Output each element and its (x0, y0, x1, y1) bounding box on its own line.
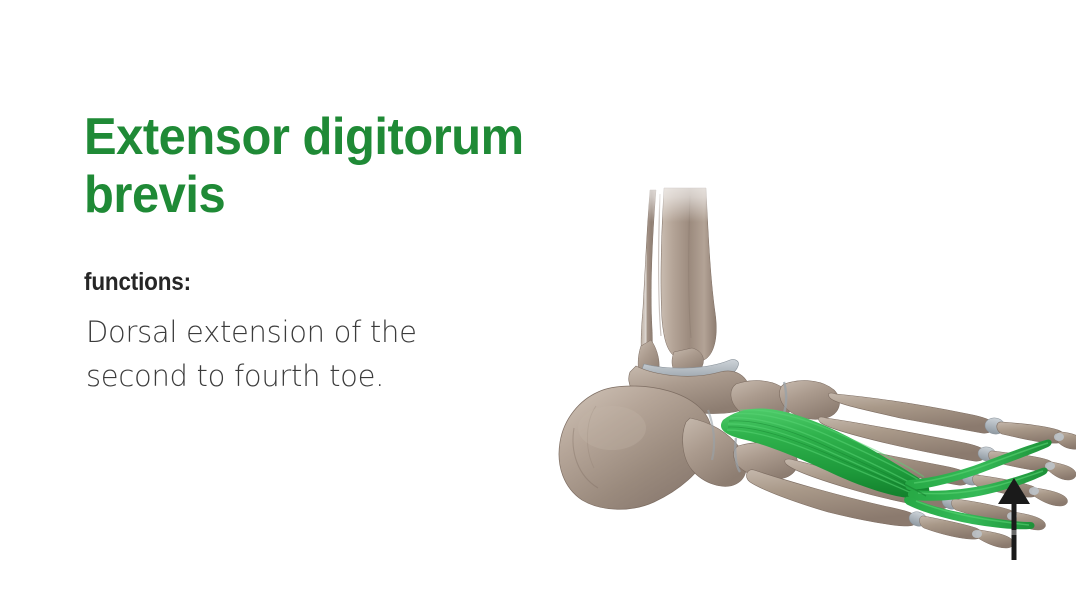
arrow-shaft-notch (1011, 530, 1017, 535)
phalanx-1-proximal (997, 422, 1066, 443)
leg-bones-group (630, 160, 730, 383)
text-column: Extensor digitorum brevis (84, 108, 554, 224)
ip-joint-1 (1054, 433, 1064, 441)
bone-fade-mask (630, 160, 730, 222)
page-title: Extensor digitorum brevis (84, 108, 526, 224)
slide-canvas: Extensor digitorum brevis functions: Dor… (0, 0, 1076, 604)
ip-joint-5 (972, 530, 982, 538)
foot-skeleton-svg (540, 160, 1076, 604)
functions-description: Dorsal extension of the second to fourth… (86, 310, 486, 398)
functions-label: functions: (84, 268, 191, 296)
calcaneus-highlight (578, 406, 646, 450)
ip-joint-3 (1029, 487, 1039, 495)
foot-skeleton-illustration (540, 160, 1076, 604)
